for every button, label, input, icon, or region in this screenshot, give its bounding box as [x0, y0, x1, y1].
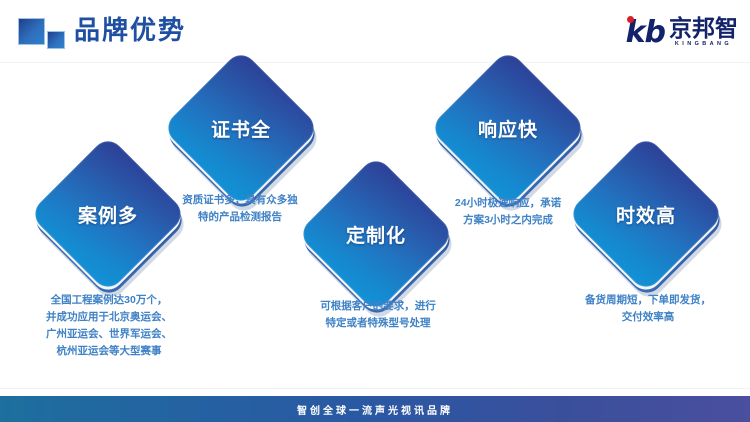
background-divider-bottom — [0, 388, 750, 389]
diamond-shape-4: 响应快 — [452, 72, 564, 184]
advantage-label-4: 响应快 — [452, 72, 564, 184]
slide-footer: 智创全球一流声光视讯品牌 — [0, 396, 750, 422]
logo-chinese-name: 京邦智 — [669, 16, 738, 40]
advantage-label-5: 时效高 — [590, 158, 702, 270]
advantage-label-2: 证书全 — [185, 72, 297, 184]
diamond-shape-2: 证书全 — [185, 72, 297, 184]
advantage-caption-5: 备货周期短，下单即发货， 交付效率高 — [548, 292, 748, 326]
background-divider-top — [0, 62, 750, 63]
slide-header: 品牌优势 kb 京邦智 KINGBANG — [0, 0, 750, 62]
advantage-card-4[interactable]: 响应快 — [452, 72, 564, 184]
advantage-card-5[interactable]: 时效高 — [590, 158, 702, 270]
logo-dot-icon — [627, 16, 634, 23]
diamond-shape-5: 时效高 — [590, 158, 702, 270]
brand-logo: kb 京邦智 KINGBANG — [626, 12, 738, 48]
page-title: 品牌优势 — [74, 13, 186, 47]
advantage-card-2[interactable]: 证书全 — [185, 72, 297, 184]
footer-slogan: 智创全球一流声光视讯品牌 — [297, 402, 453, 417]
logo-mark: kb — [626, 18, 665, 48]
slide-canvas: 品牌优势 kb 京邦智 KINGBANG 案例多 全国工程案例达30万个， 并成… — [0, 0, 750, 422]
advantage-caption-3: 可根据客户的要求，进行 特定或者特殊型号处理 — [278, 298, 478, 332]
square-small-icon — [47, 31, 65, 49]
advantage-caption-1: 全国工程案例达30万个， 并成功应用于北京奥运会、 广州亚运会、世界军运会、 杭… — [4, 292, 214, 360]
logo-wordmark: 京邦智 KINGBANG — [669, 16, 738, 48]
logo-english-name: KINGBANG — [669, 40, 738, 48]
square-large-icon — [18, 18, 45, 45]
